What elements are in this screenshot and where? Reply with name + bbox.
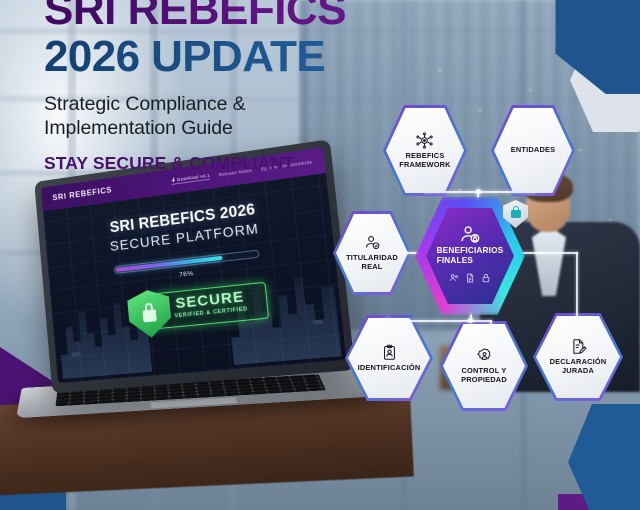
connector-declaracion-down — [576, 252, 578, 320]
people-icon — [449, 270, 459, 288]
document-icon — [465, 270, 475, 288]
person-check-icon — [364, 234, 381, 251]
document-pen-icon — [570, 338, 587, 355]
hex-label-declaracion-jurada: DECLARACIÓN JURADA — [550, 358, 607, 375]
hex-label-beneficiarios-finales: BENEFICIARIOS FINALES — [437, 246, 504, 265]
lock-icon — [481, 270, 491, 288]
person-badge-icon — [459, 224, 481, 244]
hex-node-control-propiedad[interactable]: CONTROL Y PROPIEDAD — [443, 324, 525, 408]
hexagon-diagram: REBEFICS FRAMEWORK ENTIDADES TITULARIDAD… — [330, 96, 640, 396]
hex-node-titularidad-real[interactable]: TITULARIDAD REAL — [336, 214, 408, 292]
connector-dot-junction — [476, 189, 481, 194]
subtitle-line2: Implementation Guide — [44, 117, 233, 139]
network-hub-icon — [416, 132, 433, 149]
laptop-mockup: MacBook Air 26% 76% SRI REBEFICS Downloa… — [22, 160, 382, 435]
hex-node-identificacion[interactable]: IDENTIFICACIÓN — [348, 318, 430, 398]
hex-node-rebefics-framework[interactable]: REBEFICS FRAMEWORK — [386, 108, 464, 193]
app-brand[interactable]: SRI REBEFICS — [52, 185, 112, 202]
hex-node-declaracion-jurada[interactable]: DECLARACIÓN JURADA — [536, 316, 620, 398]
hex-label-rebefics-framework: REBEFICS FRAMEWORK — [399, 152, 450, 169]
subtitle-line1: Strategic Compliance & — [44, 93, 246, 115]
laptop-lid: 26% 76% SRI REBEFICS Download v4.1 Relea… — [34, 139, 355, 393]
page-title-line2: 2026 UPDATE — [44, 34, 424, 80]
hex-label-identificacion: IDENTIFICACIÓN — [358, 364, 421, 373]
secure-badge: SECURE VERIFIED & CERTIFIED — [110, 277, 274, 337]
hex-center-sub-icons — [449, 270, 491, 288]
nav-link-download[interactable]: Download v4.1 — [171, 173, 210, 185]
id-card-icon — [381, 344, 398, 361]
shield-lock-body — [142, 309, 156, 322]
connector-center-right — [516, 252, 578, 254]
lock-shield-lock — [511, 210, 521, 218]
gear-person-icon — [476, 347, 493, 364]
download-icon — [171, 178, 175, 183]
hex-label-titularidad-real: TITULARIDAD REAL — [346, 254, 398, 271]
connector-dot-bottom-junction — [468, 318, 473, 323]
laptop-screen: 26% 76% SRI REBEFICS Download v4.1 Relea… — [41, 147, 346, 383]
hex-label-control-propiedad: CONTROL Y PROPIEDAD — [461, 367, 507, 384]
hex-label-entidades: ENTIDADES — [511, 146, 556, 155]
app-hero: SRI REBEFICS 2026 SECURE PLATFORM 76% SE… — [43, 173, 346, 383]
page-title-line1: SRI REBEFICS — [44, 0, 424, 32]
hex-node-entidades[interactable]: ENTIDADES — [494, 108, 572, 193]
lock-shield-icon — [503, 200, 528, 228]
